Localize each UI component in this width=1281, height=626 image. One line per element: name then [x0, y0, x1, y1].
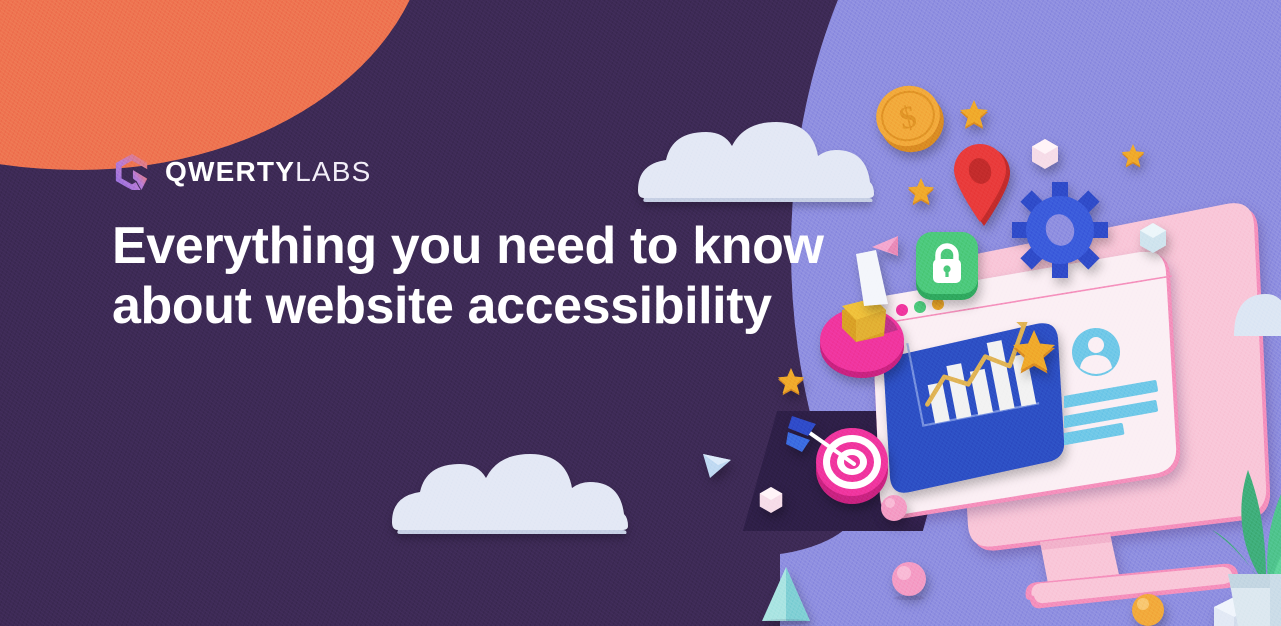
page-title: Everything you need to know about websit…: [112, 216, 872, 336]
gear-icon: [1012, 182, 1108, 278]
screen-avatar-and-textbars: [1064, 328, 1174, 448]
cloud-top: [636, 120, 878, 204]
white-mound-shape: [1232, 292, 1281, 338]
hero-banner: $: [0, 0, 1281, 626]
sphere-pink-icon: [880, 494, 908, 524]
plant-pot: [1228, 574, 1281, 626]
brand-logo-text: QWERTYLABS: [165, 158, 372, 186]
star-gold-icon: [1010, 330, 1058, 378]
plant-leaves: [1212, 468, 1281, 584]
coin-dollar-icon: $: [874, 82, 948, 158]
user-avatar-icon: [1072, 328, 1120, 376]
sphere-orange-icon: [1130, 592, 1166, 626]
potted-plant-icon: [1210, 440, 1281, 626]
page-title-line-2: about website accessibility: [112, 276, 872, 336]
lock-badge-icon: [912, 228, 988, 304]
brand-logo[interactable]: QWERTYLABS: [113, 152, 372, 192]
hexagon-gem-icon: [758, 486, 784, 514]
qwerty-hexagon-q-icon: [113, 152, 151, 192]
orange-blob-shape: [0, 0, 430, 170]
triangle-cyan-icon: [700, 450, 734, 480]
star-gold-icon: [906, 178, 936, 208]
screen-text-bars: [1064, 380, 1158, 446]
pyramid-cyan-icon: [760, 565, 812, 625]
sphere-pink-icon: [890, 560, 928, 600]
brand-name-bold: QWERTY: [165, 156, 295, 187]
page-title-line-1: Everything you need to know: [112, 217, 824, 275]
star-gold-icon: [1120, 144, 1146, 170]
location-pin-icon: [950, 142, 1020, 228]
hexagon-gem-icon: [1030, 138, 1060, 170]
star-gold-icon: [958, 100, 990, 132]
hexagon-gem-icon: [1138, 222, 1168, 254]
cloud-bottom: [390, 452, 632, 536]
brand-name-light: LABS: [295, 156, 371, 187]
